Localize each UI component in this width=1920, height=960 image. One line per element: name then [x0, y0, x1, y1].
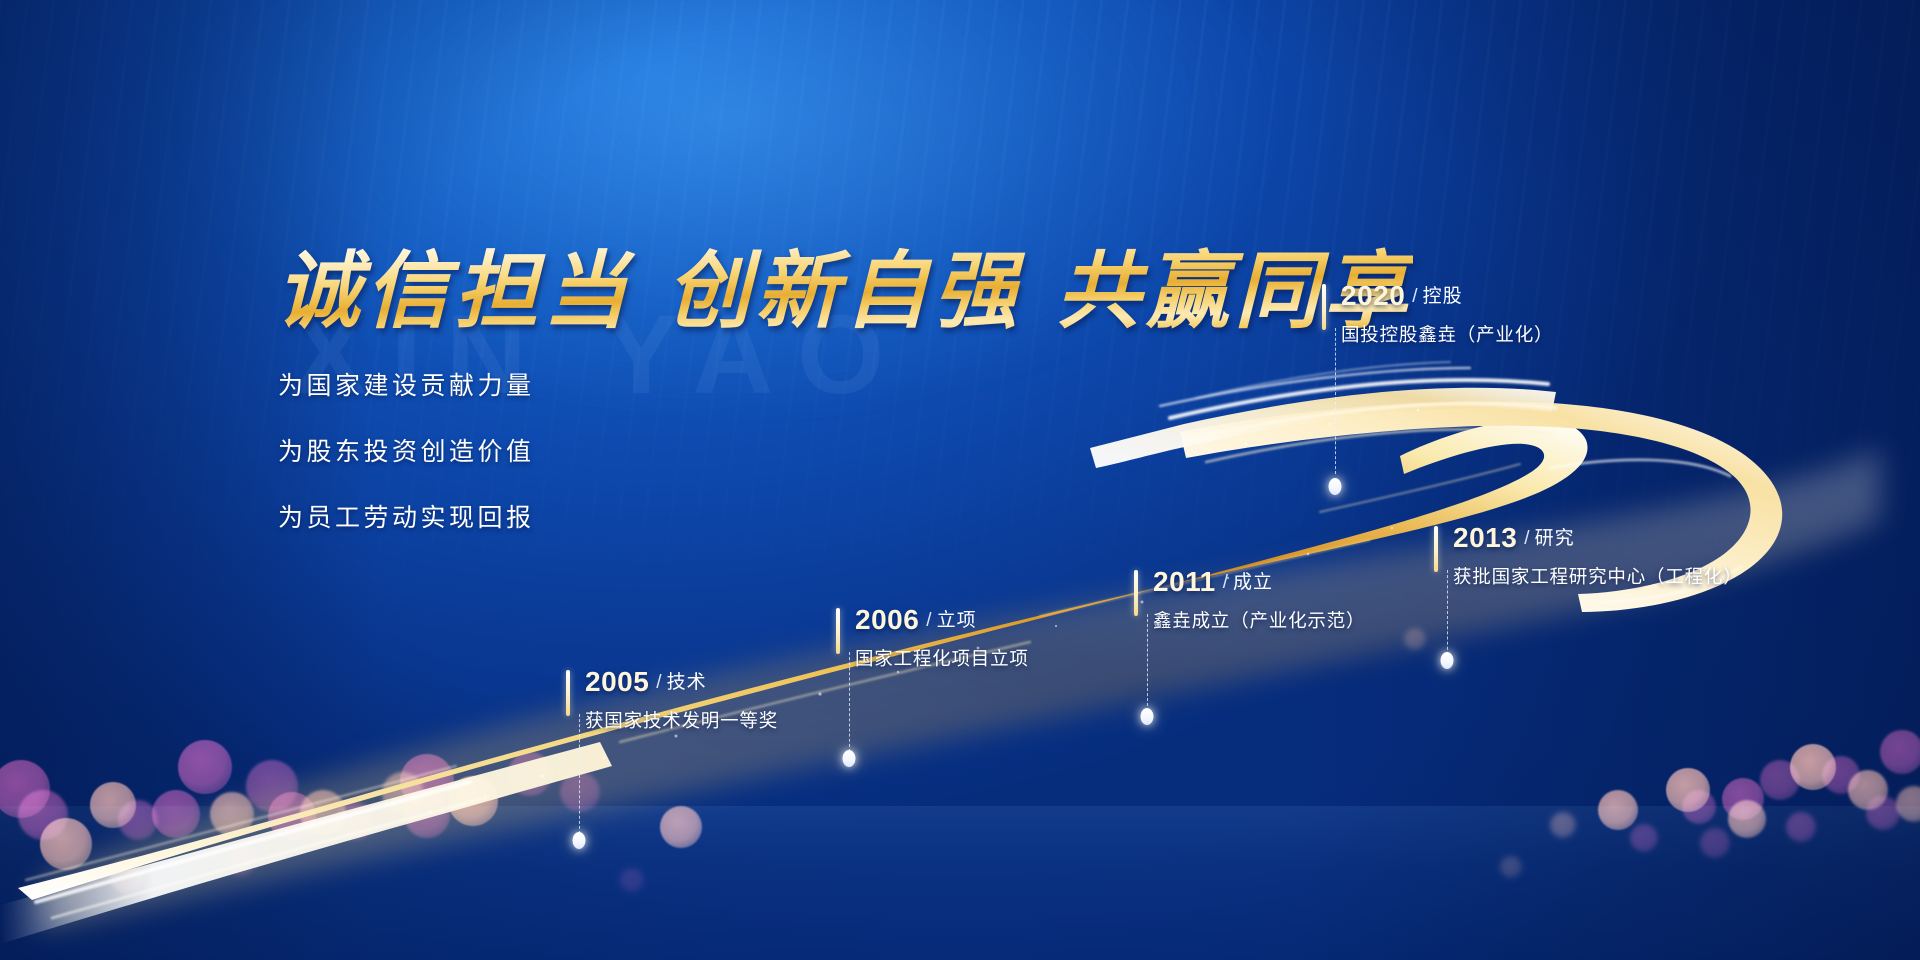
milestone-year: 2006: [855, 604, 919, 635]
milestone-dot[interactable]: [573, 832, 586, 849]
milestone-2020[interactable]: 2020/控股国投控股鑫垚（产业化）: [1322, 282, 1553, 347]
banner-canvas: XIN YAO 诚信担当 创新自强 共赢同享 为国家建设贡献力量为股东投资创造价…: [0, 0, 1920, 960]
milestone-text: 2020/控股国投控股鑫垚（产业化）: [1322, 282, 1553, 347]
milestone-heading: 2006/立项: [855, 606, 1029, 634]
milestone-text: 2013/研究获批国家工程研究中心（工程化）: [1434, 524, 1743, 589]
milestone-2011[interactable]: 2011/成立鑫垚成立（产业化示范）: [1134, 568, 1365, 633]
milestone-tag: 立项: [937, 610, 977, 631]
milestone-text: 2011/成立鑫垚成立（产业化示范）: [1134, 568, 1365, 633]
milestone-2005[interactable]: 2005/技术获国家技术发明一等奖: [566, 668, 778, 733]
milestone-dot[interactable]: [1329, 478, 1342, 495]
milestone-accent-bar: [1434, 526, 1438, 572]
milestone-leader-line: [1335, 328, 1336, 474]
milestone-separator: /: [1412, 286, 1417, 307]
milestone-tag: 成立: [1233, 572, 1273, 593]
milestone-description: 国投控股鑫垚（产业化）: [1341, 321, 1553, 347]
milestone-year: 2013: [1453, 522, 1517, 553]
milestone-accent-bar: [836, 608, 840, 654]
subtitle-line: 为股东投资创造价值: [278, 432, 535, 468]
milestone-heading: 2005/技术: [585, 668, 778, 696]
milestone-separator: /: [1524, 528, 1529, 549]
milestone-text: 2005/技术获国家技术发明一等奖: [566, 668, 778, 733]
milestone-dot[interactable]: [843, 750, 856, 767]
milestone-year: 2011: [1153, 566, 1216, 597]
milestone-separator: /: [926, 610, 931, 631]
milestone-dot[interactable]: [1441, 652, 1454, 669]
milestone-year: 2005: [585, 666, 649, 697]
milestone-year: 2020: [1341, 280, 1405, 311]
subtitle-line: 为国家建设贡献力量: [278, 366, 535, 402]
milestone-tag: 技术: [667, 672, 707, 693]
milestone-2006[interactable]: 2006/立项国家工程化项目立项: [836, 606, 1029, 671]
milestone-accent-bar: [566, 670, 570, 716]
milestone-tag: 研究: [1535, 528, 1575, 549]
milestone-description: 鑫垚成立（产业化示范）: [1153, 607, 1365, 633]
subtitle-list: 为国家建设贡献力量为股东投资创造价值为员工劳动实现回报: [278, 366, 535, 564]
page-title: 诚信担当 创新自强 共赢同享: [276, 246, 1413, 335]
milestone-tag: 控股: [1423, 286, 1463, 307]
milestone-description: 获批国家工程研究中心（工程化）: [1453, 563, 1743, 589]
subtitle-line: 为员工劳动实现回报: [278, 498, 535, 534]
milestone-accent-bar: [1134, 570, 1138, 616]
milestone-dot[interactable]: [1141, 708, 1154, 725]
milestone-heading: 2020/控股: [1341, 282, 1553, 310]
milestone-2013[interactable]: 2013/研究获批国家工程研究中心（工程化）: [1434, 524, 1743, 589]
headline-block: XIN YAO 诚信担当 创新自强 共赢同享: [276, 246, 1413, 335]
milestone-text: 2006/立项国家工程化项目立项: [836, 606, 1029, 671]
milestone-description: 国家工程化项目立项: [855, 645, 1029, 671]
milestone-separator: /: [1223, 572, 1228, 593]
milestone-heading: 2011/成立: [1153, 568, 1365, 596]
milestone-heading: 2013/研究: [1453, 524, 1743, 552]
milestone-accent-bar: [1322, 284, 1326, 330]
milestone-separator: /: [656, 672, 661, 693]
milestone-description: 获国家技术发明一等奖: [585, 707, 778, 733]
